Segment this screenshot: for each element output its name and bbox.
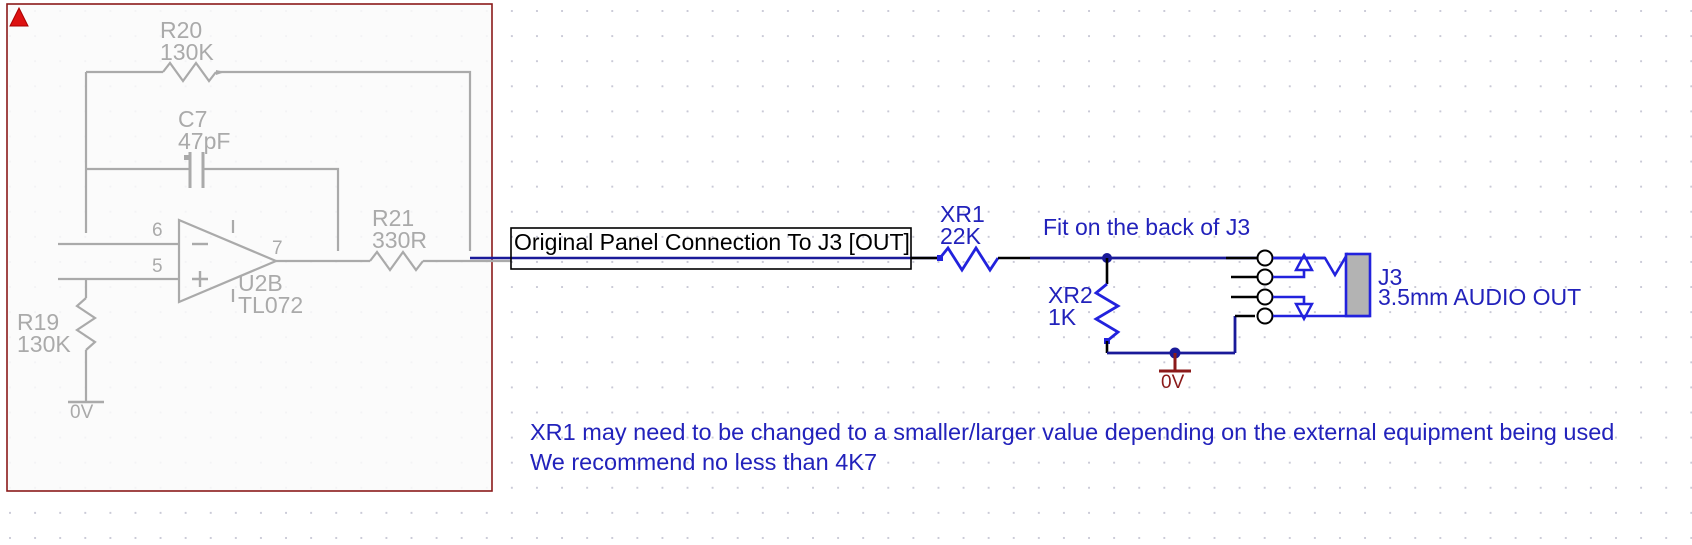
resistor-xr1-symbol xyxy=(940,248,998,270)
label-ground-right: 0V xyxy=(1161,372,1185,393)
label-xr1-value: 22K xyxy=(940,223,982,249)
resistor-xr2-symbol xyxy=(1096,284,1118,341)
j3-connector-body xyxy=(1346,254,1370,316)
j3-pin1-terminal xyxy=(1258,251,1273,266)
panel-connection-label: Original Panel Connection To J3 [OUT] xyxy=(514,229,910,255)
j3-switch-arm-top xyxy=(1305,253,1348,275)
resistor-xr1-pin-left xyxy=(937,255,943,261)
j3-pin3-terminal xyxy=(1258,290,1273,305)
annotation-note-line1: XR1 may need to be changed to a smaller/… xyxy=(530,419,1614,445)
j3-pin4-terminal xyxy=(1258,309,1273,324)
annotation-fit-note: Fit on the back of J3 xyxy=(1043,214,1250,240)
label-j3-value: 3.5mm AUDIO OUT xyxy=(1378,284,1581,310)
label-xr2-value: 1K xyxy=(1048,304,1077,330)
annotation-note-line2: We recommend no less than 4K7 xyxy=(530,449,877,475)
ground-symbol-right xyxy=(1159,353,1191,371)
schematic-canvas: R20 130K C7 47pF R21 330R R19 130K U2B T… xyxy=(0,0,1692,545)
new-wiring-layer: XR1 22K XR2 1K J3 3.5mm AUDIO OUT 0V Fit… xyxy=(0,0,1692,545)
j3-pin2-terminal xyxy=(1258,270,1273,285)
